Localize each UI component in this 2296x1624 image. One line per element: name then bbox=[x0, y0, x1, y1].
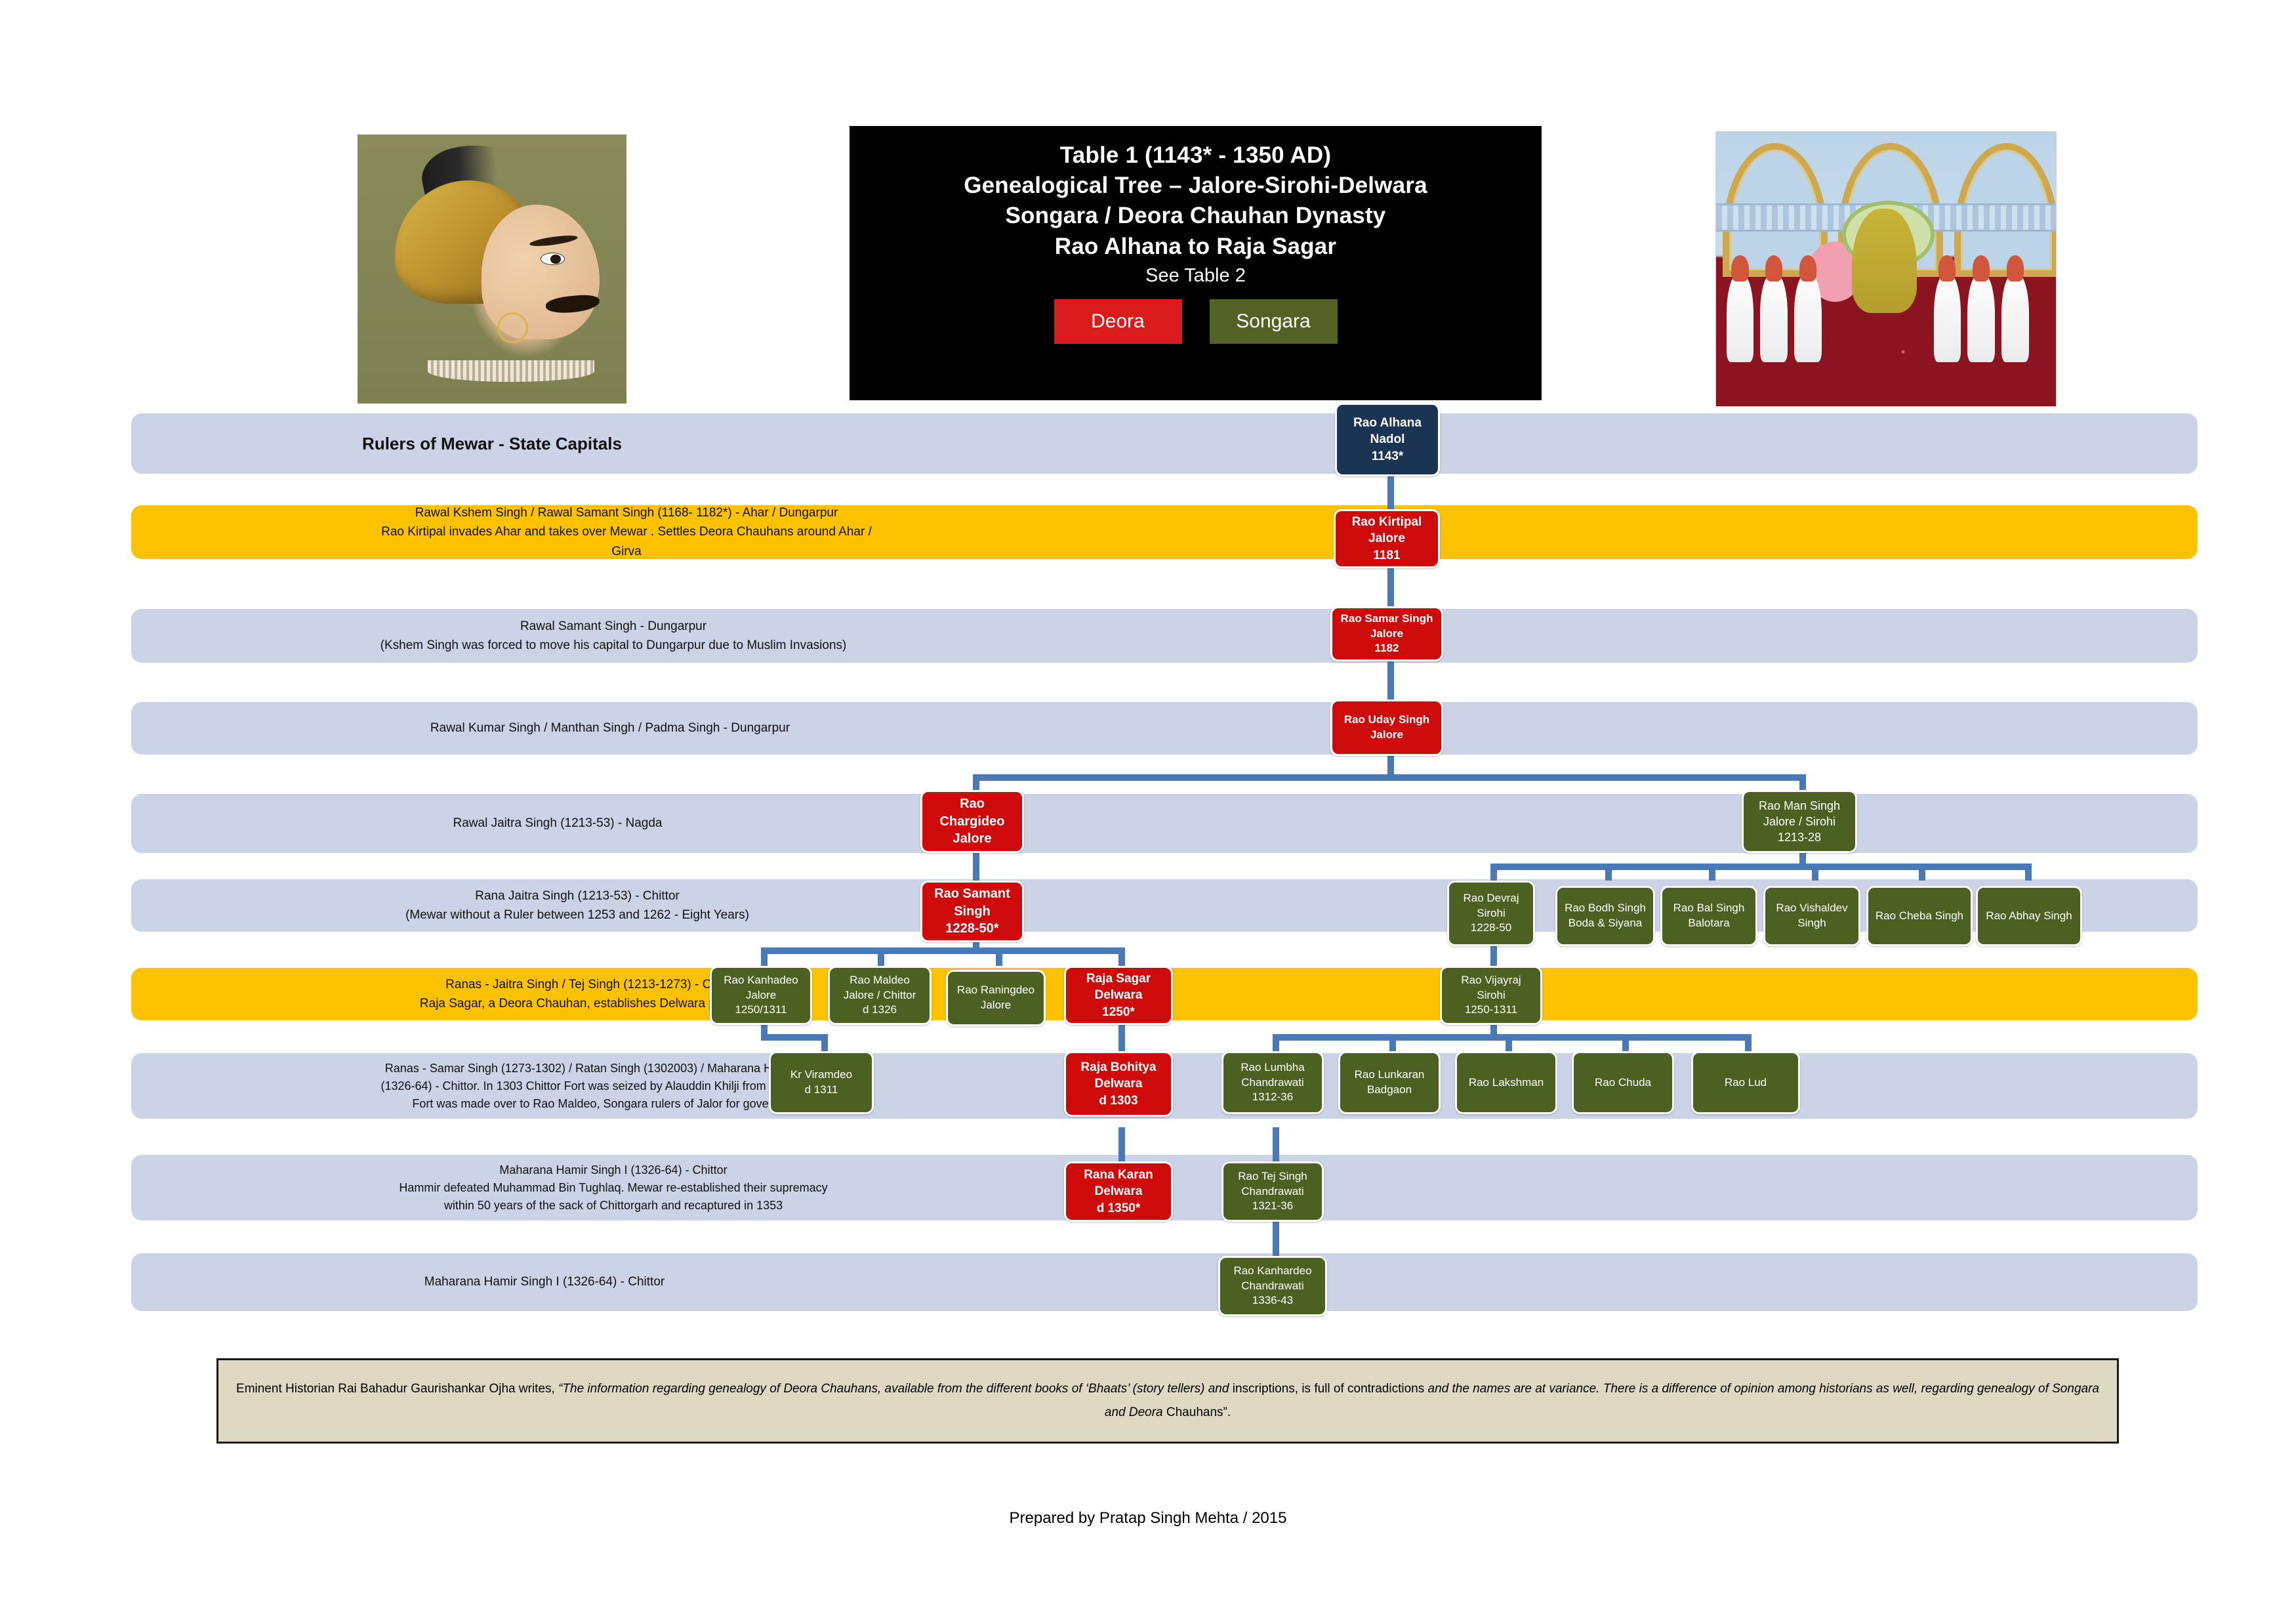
connector-bus-vishaldev bbox=[1812, 864, 1818, 881]
node-rao-lakshman[interactable]: Rao Lakshman bbox=[1455, 1051, 1557, 1114]
row-band-maharana-hamir-singh-2: Maharana Hamir Singh I (1326-64) - Chitt… bbox=[131, 1253, 2198, 1311]
node-line-2: Chandrawati bbox=[1241, 1279, 1303, 1294]
row-band-kshem-singh: Rawal Kshem Singh / Rawal Samant Singh (… bbox=[131, 505, 2198, 559]
necklace-shape bbox=[428, 360, 594, 382]
node-line-1: Rao Raningdeo bbox=[957, 983, 1035, 998]
node-line-1: Rao Kanhadeo bbox=[724, 973, 798, 988]
connector-chargideo-samant bbox=[973, 853, 979, 881]
title-line-2: Genealogical Tree – Jalore-Sirohi-Delwar… bbox=[850, 171, 1542, 201]
quote-text-1: “The information regarding genealogy of … bbox=[558, 1382, 1229, 1396]
node-line-1: Rao Devraj bbox=[1463, 891, 1519, 906]
connector-bus-chuda bbox=[1622, 1034, 1629, 1051]
node-line-1: Rao Alhana bbox=[1353, 415, 1422, 431]
node-line-1: Rao Uday Singh bbox=[1344, 713, 1429, 728]
node-line-1: Rao Cheba Singh bbox=[1876, 909, 1963, 924]
connector-rajasagar-bohitya bbox=[1118, 1024, 1125, 1051]
node-rao-kirtipal[interactable]: Rao Kirtipal Jalore 1181 bbox=[1334, 509, 1440, 568]
connector-bus-lunkaran bbox=[1389, 1034, 1396, 1051]
connector-bus-bodh bbox=[1605, 864, 1612, 881]
node-rao-samar-singh[interactable]: Rao Samar Singh Jalore 1182 bbox=[1330, 606, 1443, 661]
node-rao-cheba-singh[interactable]: Rao Cheba Singh bbox=[1866, 886, 1973, 946]
connector-lumbha-tej bbox=[1273, 1127, 1279, 1161]
node-line-2: Nadol bbox=[1370, 431, 1405, 448]
node-line-3: Jalore bbox=[953, 830, 992, 848]
node-rao-kanhardeo[interactable]: Rao Kanhardeo Chandrawati 1336-43 bbox=[1218, 1256, 1327, 1316]
courtier-shape bbox=[2001, 274, 2028, 362]
node-rao-chuda[interactable]: Rao Chuda bbox=[1572, 1051, 1674, 1114]
node-line-3: 1250-1311 bbox=[1465, 1003, 1517, 1018]
node-line-2: Delwara bbox=[1095, 1075, 1143, 1092]
row-band-samant-singh-dungarpur: Rawal Samant Singh - Dungarpur (Kshem Si… bbox=[131, 609, 2198, 663]
connector-samant-bus bbox=[761, 947, 1125, 954]
quote-tail-2: Chauhans”. bbox=[1166, 1405, 1231, 1419]
node-line-2: d 1311 bbox=[805, 1083, 838, 1098]
node-line-2: Boda & Siyana bbox=[1568, 916, 1642, 931]
legend: Deora Songara bbox=[850, 299, 1542, 344]
connector-bus-cheba bbox=[1919, 864, 1925, 881]
courtier-shape bbox=[1760, 274, 1787, 362]
node-line-2: Delwara bbox=[1095, 1183, 1143, 1199]
row9-line-3: within 50 years of the sack of Chittorga… bbox=[0, 1197, 1637, 1215]
node-line-1: Rana Karan bbox=[1084, 1167, 1153, 1183]
node-rao-bal-singh[interactable]: Rao Bal Singh Balotara bbox=[1660, 886, 1757, 946]
face-shape bbox=[482, 205, 600, 339]
legend-chip-songara[interactable]: Songara bbox=[1210, 299, 1338, 344]
node-line-1: Rao Lumbha bbox=[1240, 1060, 1304, 1075]
node-kr-viramdeo[interactable]: Kr Viramdeo d 1311 bbox=[769, 1051, 874, 1114]
node-line-3: 1336-43 bbox=[1252, 1293, 1293, 1308]
courtier-shape bbox=[1967, 274, 1994, 362]
row9-line-1: Maharana Hamir Singh I (1326-64) - Chitt… bbox=[0, 1161, 1637, 1179]
node-line-1: Rao Chuda bbox=[1595, 1075, 1651, 1091]
node-line-1: Raja Bohitya bbox=[1080, 1059, 1156, 1075]
row-band-jaitra-singh-nagda: Rawal Jaitra Singh (1213-53) - Nagda bbox=[131, 794, 2198, 853]
node-line-2: Sirohi bbox=[1477, 988, 1505, 1003]
node-line-1: Raja Sagar bbox=[1086, 970, 1151, 987]
connector-bus-rajasagar bbox=[1118, 947, 1125, 966]
node-rao-abhay-singh[interactable]: Rao Abhay Singh bbox=[1976, 886, 2082, 946]
courtier-shape bbox=[1727, 274, 1753, 362]
historian-quote-box: Eminent Historian Rai Bahadur Gaurishank… bbox=[216, 1358, 2119, 1444]
node-rao-lunkaran[interactable]: Rao Lunkaran Badgaon bbox=[1338, 1051, 1441, 1114]
node-line-2: Chargideo bbox=[940, 813, 1005, 831]
node-line-2: Chandrawati bbox=[1241, 1075, 1303, 1091]
rulers-of-mewar-heading: Rulers of Mewar - State Capitals bbox=[0, 430, 2188, 457]
node-line-1: Rao Tej Singh bbox=[1238, 1169, 1307, 1184]
node-line-3: 1181 bbox=[1373, 547, 1400, 564]
prepared-by-note: Prepared by Pratap Singh Mehta / 2015 bbox=[0, 1509, 2296, 1528]
node-line-3: 1213-28 bbox=[1778, 829, 1821, 845]
node-rao-samant-singh[interactable]: Rao Samant Singh 1228-50* bbox=[920, 881, 1024, 942]
node-rao-devraj[interactable]: Rao Devraj Sirohi 1228-50 bbox=[1447, 881, 1535, 946]
connector-tej-kanhardeo bbox=[1273, 1222, 1279, 1256]
node-line-3: 1228-50 bbox=[1471, 921, 1511, 936]
node-raja-sagar[interactable]: Raja Sagar Delwara 1250* bbox=[1064, 966, 1173, 1025]
node-line-3: d 1303 bbox=[1099, 1093, 1138, 1109]
legend-chip-deora[interactable]: Deora bbox=[1054, 299, 1182, 344]
rajput-durbar-court-scene-image bbox=[1715, 131, 2057, 407]
row-band-kumar-singh: Rawal Kumar Singh / Manthan Singh / Padm… bbox=[131, 702, 2198, 755]
node-rao-vijayraj[interactable]: Rao Vijayraj Sirohi 1250-1311 bbox=[1440, 966, 1542, 1025]
node-line-2: Singh bbox=[954, 903, 991, 921]
node-rao-uday-singh[interactable]: Rao Uday Singh Jalore bbox=[1330, 699, 1443, 756]
node-line-3: 1228-50* bbox=[945, 920, 998, 938]
quote-attribution: Eminent Historian Rai Bahadur Gaurishank… bbox=[236, 1382, 555, 1396]
node-line-3: d 1350* bbox=[1097, 1200, 1141, 1217]
node-line-2: Jalore bbox=[746, 988, 776, 1003]
node-line-1: Rao Kanhardeo bbox=[1233, 1264, 1311, 1279]
connector-bus-devraj bbox=[1490, 864, 1497, 881]
node-line-2: Badgaon bbox=[1367, 1083, 1412, 1098]
node-line-1: Rao Man Singh bbox=[1759, 798, 1840, 814]
node-line-2: Jalore bbox=[1368, 530, 1405, 547]
node-line-1: Rao Samant bbox=[934, 885, 1010, 903]
connector-bus-raningdeo bbox=[996, 947, 1002, 966]
row5-line-1: Rawal Jaitra Singh (1213-53) - Nagda bbox=[0, 814, 1582, 833]
connector-bus-lakshman bbox=[1506, 1034, 1512, 1051]
node-line-1: Rao Lunkaran bbox=[1355, 1068, 1425, 1083]
connector-bus-maldeo bbox=[878, 947, 884, 966]
connector-kirtipal-samar bbox=[1387, 568, 1394, 606]
node-rao-maldeo[interactable]: Rao Maldeo Jalore / Chittor d 1326 bbox=[828, 966, 932, 1025]
connector-alhana-kirtipal bbox=[1387, 476, 1394, 509]
node-line-3: 1182 bbox=[1375, 641, 1399, 656]
node-line-3: d 1326 bbox=[863, 1003, 897, 1018]
earring-shape bbox=[497, 312, 528, 343]
node-line-1: Rao Vijayraj bbox=[1461, 973, 1521, 988]
title-line-1: Table 1 (1143* - 1350 AD) bbox=[850, 140, 1542, 171]
node-line-1: Rao bbox=[960, 795, 985, 813]
node-line-1: Rao Maldeo bbox=[850, 973, 910, 988]
quote-tail-1: inscriptions, is full of contradictions bbox=[1233, 1382, 1425, 1396]
seated-ruler-shape bbox=[1852, 209, 1916, 313]
title-card: Table 1 (1143* - 1350 AD) Genealogical T… bbox=[850, 126, 1542, 400]
node-rao-vishaldev-singh[interactable]: Rao Vishaldev Singh bbox=[1763, 886, 1860, 946]
node-line-1: Rao Bal Singh bbox=[1673, 901, 1745, 916]
node-line-2: Delwara bbox=[1095, 987, 1143, 1003]
eye-shape bbox=[541, 253, 565, 264]
node-rao-lumbha[interactable]: Rao Lumbha Chandrawati 1312-36 bbox=[1221, 1051, 1324, 1114]
node-line-1: Rao Lakshman bbox=[1469, 1075, 1544, 1091]
node-rao-raningdeo[interactable]: Rao Raningdeo Jalore bbox=[946, 970, 1046, 1026]
node-rao-alhana[interactable]: Rao Alhana Nadol 1143* bbox=[1335, 403, 1440, 476]
see-table-2-note: See Table 2 bbox=[850, 262, 1542, 291]
connector-bus-lumbha bbox=[1273, 1034, 1279, 1051]
connector-kanhadeo-bus bbox=[761, 1034, 825, 1041]
connector-mansingh-bus bbox=[1490, 864, 2032, 870]
node-line-2: Jalore bbox=[1370, 627, 1403, 642]
node-line-3: 1321-36 bbox=[1252, 1199, 1293, 1214]
courtier-shape bbox=[1934, 274, 1961, 362]
connector-bus-bal bbox=[1709, 864, 1715, 881]
connector-bus-kanhadeo bbox=[761, 947, 768, 966]
node-line-1: Rao Lud bbox=[1725, 1075, 1767, 1091]
connector-bohitya-karan bbox=[1118, 1127, 1125, 1161]
node-line-3: 1312-36 bbox=[1252, 1090, 1293, 1105]
connector-uday-bus bbox=[973, 774, 1806, 781]
node-line-1: Rao Abhay Singh bbox=[1986, 909, 2072, 924]
rajput-ruler-portrait-image bbox=[358, 135, 626, 404]
node-line-1: Kr Viramdeo bbox=[790, 1068, 852, 1083]
node-line-3: 1143* bbox=[1372, 448, 1404, 465]
node-line-2: Jalore bbox=[1370, 728, 1403, 743]
node-line-3: 1250* bbox=[1102, 1004, 1135, 1020]
courtier-shape bbox=[1794, 274, 1821, 362]
node-line-2: Sirohi bbox=[1477, 906, 1505, 921]
node-line-1: Rao Samar Singh bbox=[1341, 612, 1433, 627]
node-line-3: 1250/1311 bbox=[735, 1003, 787, 1018]
row6-line-1: Rana Jaitra Singh (1213-53) - Chittor bbox=[0, 886, 1601, 906]
node-rao-tej-singh[interactable]: Rao Tej Singh Chandrawati 1321-36 bbox=[1221, 1161, 1324, 1222]
node-rao-man-singh[interactable]: Rao Man Singh Jalore / Sirohi 1213-28 bbox=[1742, 790, 1857, 853]
node-line-1: Rao Kirtipal bbox=[1352, 514, 1422, 530]
connector-vijayraj-bus bbox=[1273, 1034, 1752, 1041]
node-line-2: Chandrawati bbox=[1241, 1184, 1303, 1199]
node-rao-chargideo[interactable]: Rao Chargideo Jalore bbox=[920, 790, 1024, 853]
node-line-1: Rao Bodh Singh bbox=[1565, 901, 1646, 916]
row-band-rulers-of-mewar: Rulers of Mewar - State Capitals bbox=[131, 413, 2198, 474]
node-line-2: Singh bbox=[1797, 916, 1826, 931]
node-line-2: Jalore bbox=[981, 998, 1011, 1013]
connector-bus-viramdeo bbox=[821, 1034, 828, 1051]
connector-samar-uday bbox=[1387, 661, 1394, 699]
node-rana-karan[interactable]: Rana Karan Delwara d 1350* bbox=[1064, 1161, 1173, 1222]
node-rao-kanhadeo[interactable]: Rao Kanhadeo Jalore 1250/1311 bbox=[710, 966, 812, 1025]
row9-line-2: Hammir defeated Muhammad Bin Tughlaq. Me… bbox=[0, 1179, 1637, 1197]
connector-bus-abhay bbox=[2025, 864, 2032, 881]
row10-line-1: Maharana Hamir Singh I (1326-64) - Chitt… bbox=[0, 1272, 1568, 1291]
node-rao-bodh-singh[interactable]: Rao Bodh Singh Boda & Siyana bbox=[1555, 886, 1655, 946]
node-line-2: Jalore / Chittor bbox=[844, 988, 916, 1003]
row6-line-2: (Mewar without a Ruler between 1253 and … bbox=[0, 906, 1601, 925]
node-line-1: Rao Vishaldev bbox=[1776, 901, 1847, 916]
connector-bus-lud bbox=[1745, 1034, 1752, 1051]
node-line-2: Balotara bbox=[1688, 916, 1729, 931]
node-raja-bohitya[interactable]: Raja Bohitya Delwara d 1303 bbox=[1064, 1051, 1173, 1117]
title-line-3: Songara / Deora Chauhan Dynasty bbox=[850, 201, 1542, 231]
title-line-4: Rao Alhana to Raja Sagar bbox=[850, 232, 1542, 262]
node-line-2: Jalore / Sirohi bbox=[1763, 814, 1835, 829]
node-rao-lud[interactable]: Rao Lud bbox=[1691, 1051, 1800, 1114]
